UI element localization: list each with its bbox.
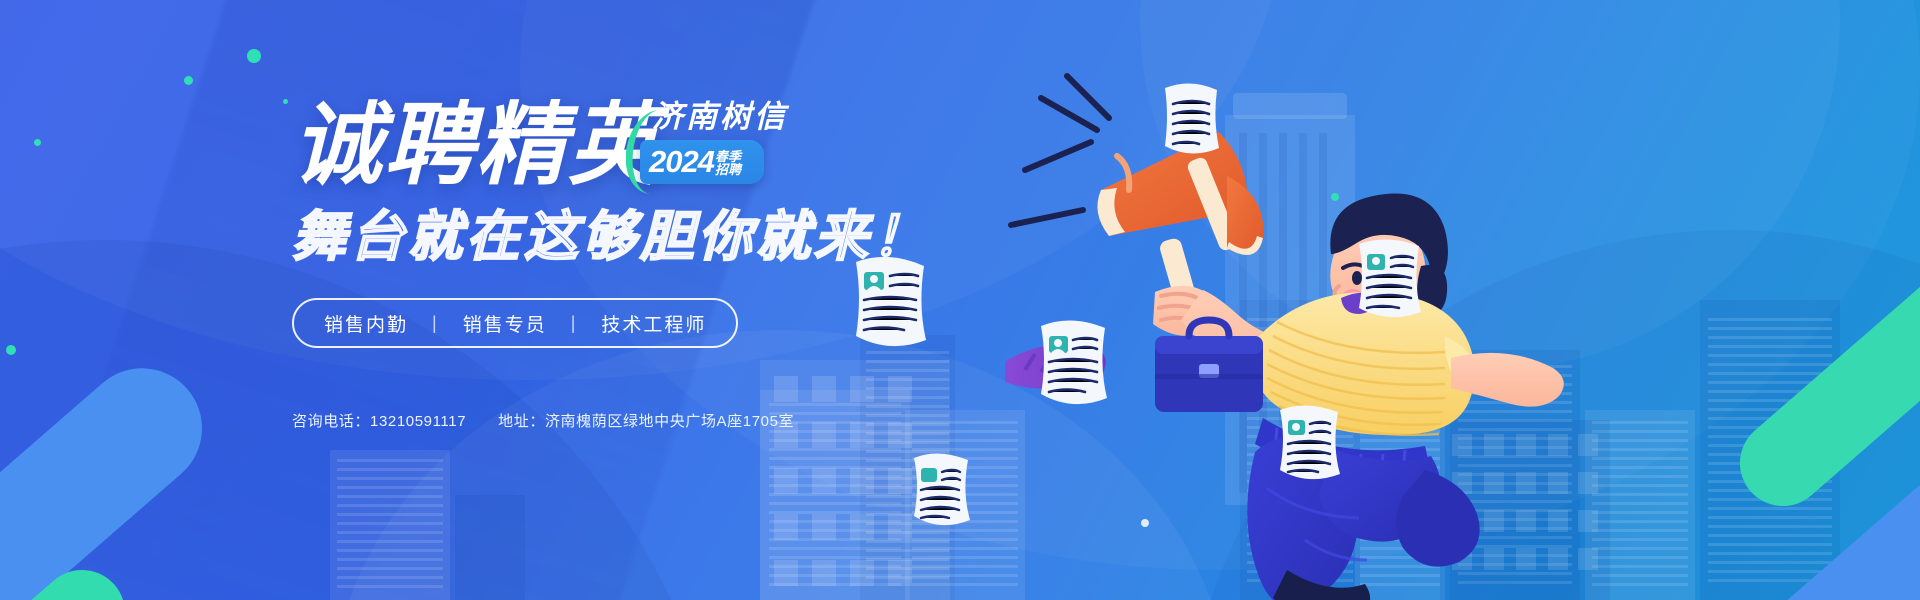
copy-block: 诚聘精英 济南树信 2024 春季 招聘 舞台就在这够胆你就来！ 销售内勤 | … xyxy=(292,96,1052,348)
building xyxy=(330,450,450,600)
resume-paper-icon xyxy=(1157,78,1227,158)
green-swoosh-icon xyxy=(626,110,656,194)
decor-dot xyxy=(283,99,288,104)
headline: 诚聘精英 xyxy=(292,96,660,196)
badge-season-line2: 招聘 xyxy=(715,163,741,176)
contact-row: 咨询电话：13210591117 地址：济南槐荫区绿地中央广场A座1705室 xyxy=(292,410,794,431)
position-separator: | xyxy=(432,313,439,334)
badge-season-line1: 春季 xyxy=(715,150,741,163)
contact-phone[interactable]: 咨询电话：13210591117 xyxy=(292,410,466,431)
subheadline: 舞台就在这够胆你就来！ xyxy=(292,206,1052,268)
decor-dot xyxy=(247,49,261,63)
sound-lines-icon xyxy=(1011,76,1109,225)
resume-paper-icon xyxy=(846,250,938,350)
position-separator: | xyxy=(571,313,578,334)
decor-dot xyxy=(6,345,16,355)
resume-paper-icon xyxy=(1351,232,1429,324)
decor-dot xyxy=(184,76,193,85)
company-name: 济南树信 xyxy=(630,100,890,134)
positions-pill[interactable]: 销售内勤 | 销售专员 | 技术工程师 xyxy=(292,298,738,348)
resume-paper-icon xyxy=(1272,400,1348,486)
brand-badge-group: 济南树信 2024 春季 招聘 xyxy=(630,100,890,184)
recruitment-banner: 诚聘精英 济南树信 2024 春季 招聘 舞台就在这够胆你就来！ 销售内勤 | … xyxy=(0,0,1920,600)
position-item-1[interactable]: 销售专员 xyxy=(463,310,547,337)
headline-row: 诚聘精英 济南树信 2024 春季 招聘 xyxy=(292,96,1052,200)
badge-year: 2024 xyxy=(649,146,714,178)
badge-season: 春季 招聘 xyxy=(715,150,741,176)
contact-address: 地址：济南槐荫区绿地中央广场A座1705室 xyxy=(498,410,794,431)
resume-paper-icon xyxy=(906,448,978,532)
resume-paper-icon xyxy=(1031,312,1117,408)
season-badge: 2024 春季 招聘 xyxy=(640,140,764,184)
position-item-2[interactable]: 技术工程师 xyxy=(601,310,706,337)
decor-dot xyxy=(34,139,41,146)
building xyxy=(455,495,525,600)
position-item-0[interactable]: 销售内勤 xyxy=(324,310,408,337)
